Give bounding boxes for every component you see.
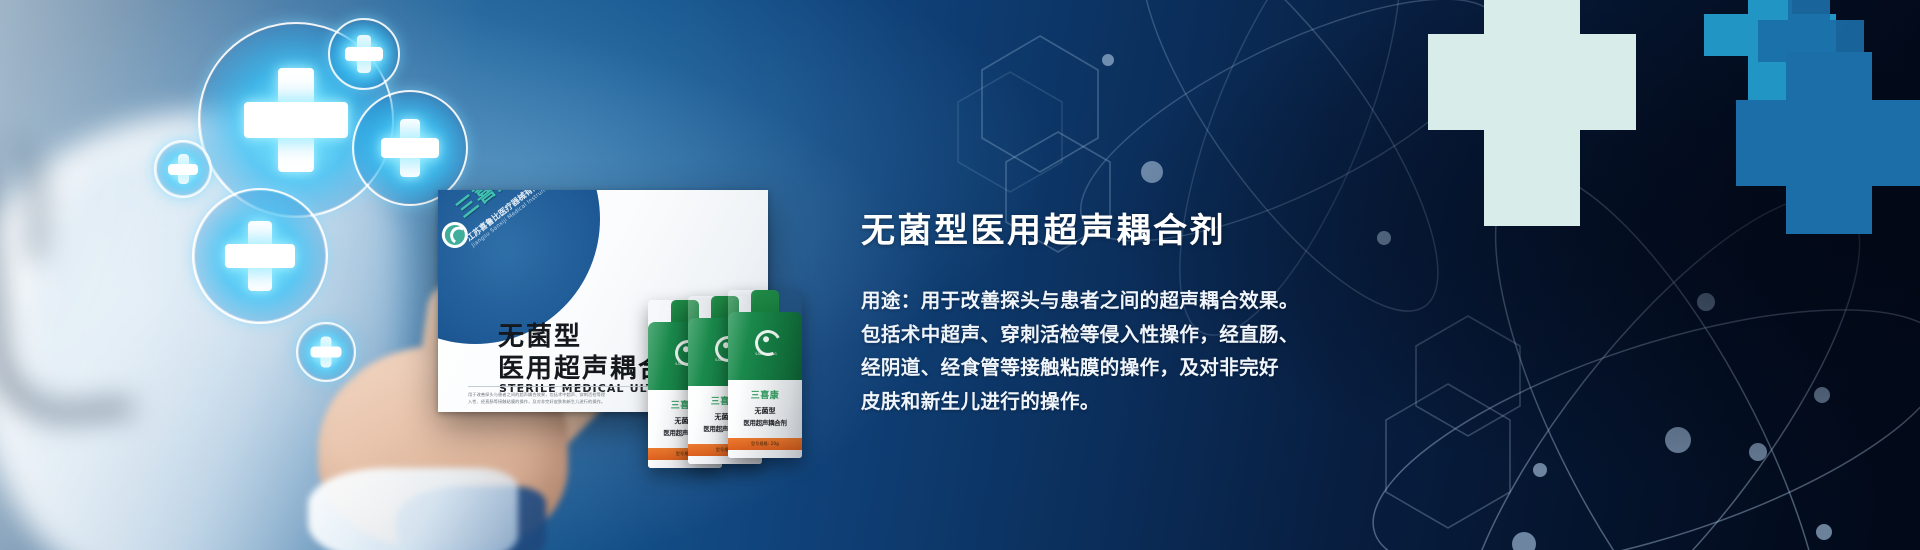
brand-badge-content: 三喜康 江苏喜鲁比医疗器械有限公司 Jiangsu Sanxiji Medica… (438, 190, 626, 324)
medical-cross-icon (311, 337, 342, 368)
sachet-spec-label: 型号规格: 20g (751, 441, 779, 447)
sachet-name-line2: 医用超声耦合剂 (728, 418, 802, 427)
sachet-name-line1: 无菌型 (728, 406, 802, 416)
sachet-orange-strip: 型号规格: 20g (728, 438, 802, 450)
product-sachet: SANXIKANG 三喜康 无菌型 医用超声耦合剂 型号规格: 20g (728, 290, 802, 458)
glow-cross-bubble-tiny (296, 322, 356, 382)
sachet-brand: 三喜康 (728, 388, 802, 401)
sachet-logo-caption: SANXIKANG (751, 352, 781, 356)
sachet-footer (728, 450, 802, 458)
medical-cross-icon (225, 221, 295, 291)
product-banner: 三喜康 江苏喜鲁比医疗器械有限公司 Jiangsu Sanxiji Medica… (0, 0, 1920, 550)
copy-block: 无菌型医用超声耦合剂 用途：用于改善探头与患者之间的超声耦合效果。 包括术中超声… (861, 213, 1501, 419)
glow-cross-bubble-small (328, 18, 400, 90)
glow-cross-bubble-tiny (154, 140, 212, 198)
description-line: 用途：用于改善探头与患者之间的超声耦合效果。 (861, 284, 1501, 318)
description-line: 经阴道、经食管等接触粘膜的操作，及对非完好 (861, 351, 1501, 385)
medical-cross-icon (381, 119, 439, 177)
sleeve-cuff (308, 468, 518, 550)
glow-cross-bubble-medium (352, 90, 468, 206)
description-line: 皮肤和新生儿进行的操作。 (861, 385, 1501, 419)
glow-cross-bubble-medium (192, 188, 328, 324)
medical-cross-icon (345, 35, 383, 73)
page-title: 无菌型医用超声耦合剂 (861, 213, 1501, 250)
description-line: 包括术中超声、穿刺活检等侵入性操作，经直肠、 (861, 318, 1501, 352)
medical-cross-icon (168, 154, 198, 184)
description-text: 用途：用于改善探头与患者之间的超声耦合效果。 包括术中超声、穿刺活检等侵入性操作… (861, 284, 1501, 418)
